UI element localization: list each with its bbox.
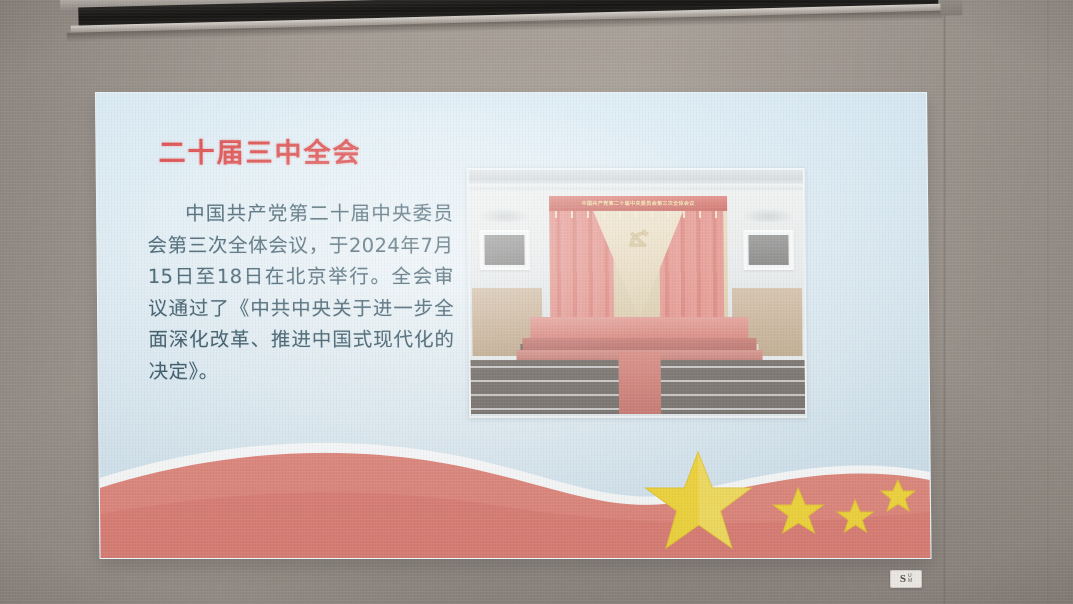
slide-body-text: 中国共产党第二十届中央委员会第三次全体会议，于2024年7月15日至18日在北京… [147,198,455,387]
wall-seam-far-right [1047,0,1049,604]
wall-label-sticker: S U M [890,570,922,588]
wall-label-code: U M [908,574,912,585]
slide-bottom-decoration [99,418,930,558]
projected-slide: 二十届三中全会 中国共产党第二十届中央委员会第三次全体会议，于2024年7月15… [95,92,932,559]
room-background: Redleaf 二十届三中全会 中国共产党第二十届中央委员会第三次全体会议，于2… [0,0,1073,604]
slide-canvas: 二十届三中全会 中国共产党第二十届中央委员会第三次全体会议，于2024年7月15… [95,92,932,559]
projector-screen-casing: Redleaf [60,0,951,44]
wall-label-logo: S [900,574,906,585]
photo-projection-wash [469,170,805,416]
plenary-session-photo: 中国共产党第二十届中央委员会第三次全体会议 [467,168,807,418]
casing-end-cap-right [940,0,963,16]
wall-seam-right [943,0,946,604]
slide-title: 二十届三中全会 [158,131,361,170]
